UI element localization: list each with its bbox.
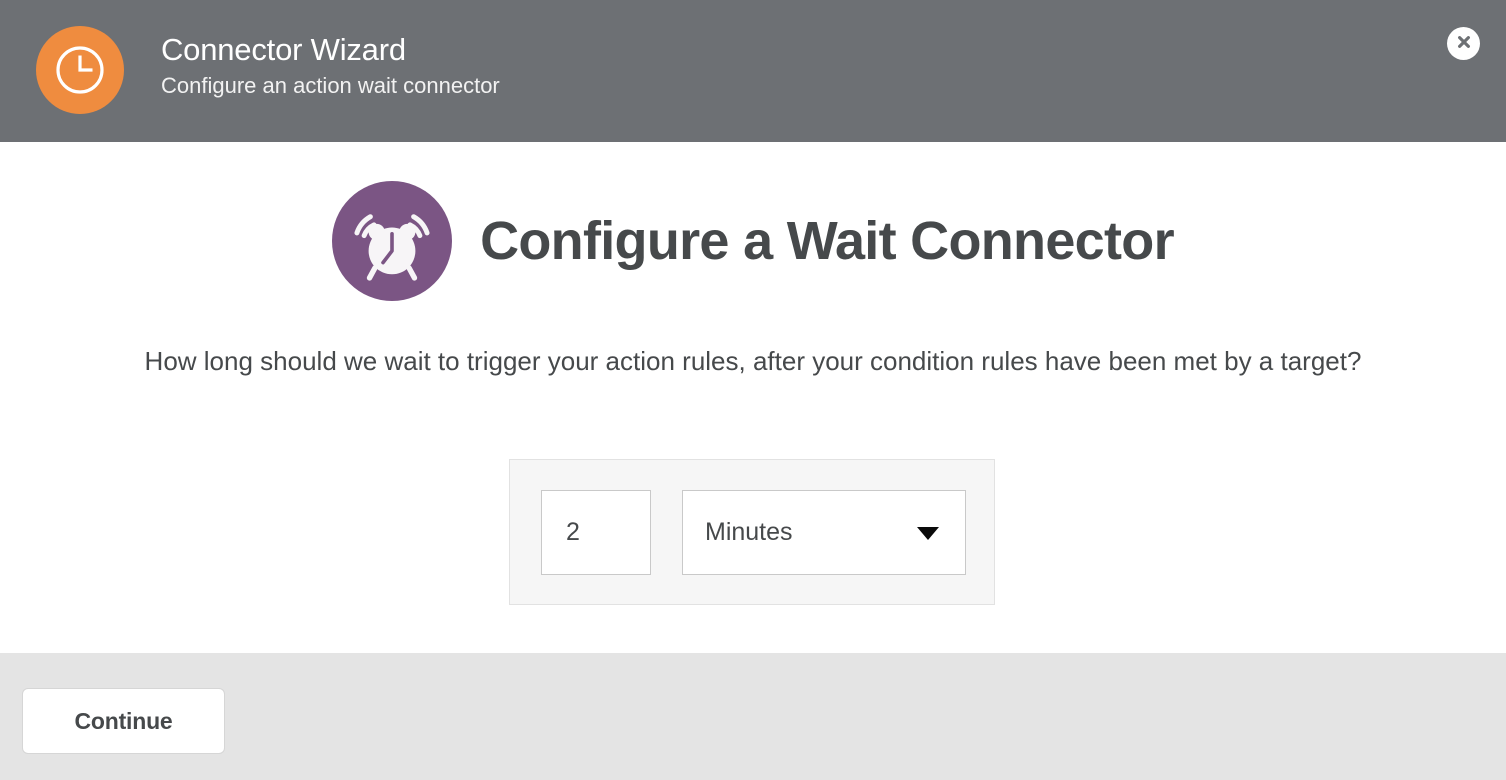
wizard-subtitle: Configure an action wait connector [161, 71, 500, 101]
wizard-title: Connector Wizard [161, 30, 500, 70]
wizard-body: Configure a Wait Connector How long shou… [0, 142, 1506, 653]
alarm-clock-icon [332, 181, 452, 301]
close-icon [1455, 33, 1473, 54]
wait-amount-input[interactable] [541, 490, 651, 575]
wait-unit-select-wrap: Minutes [682, 490, 966, 575]
clock-icon [36, 26, 124, 114]
page-title: Configure a Wait Connector [480, 211, 1174, 271]
wizard-footer: Continue [0, 653, 1506, 780]
wait-unit-select[interactable]: Minutes [682, 490, 966, 575]
page-description: How long should we wait to trigger your … [53, 336, 1453, 386]
continue-button[interactable]: Continue [22, 688, 225, 754]
title-row: Configure a Wait Connector [0, 175, 1506, 307]
header-icon-wrap [36, 26, 124, 114]
close-button[interactable] [1447, 27, 1480, 60]
wizard-header: Connector Wizard Configure an action wai… [0, 0, 1506, 142]
wait-duration-panel: Minutes [509, 459, 995, 605]
header-text-block: Connector Wizard Configure an action wai… [161, 30, 500, 101]
